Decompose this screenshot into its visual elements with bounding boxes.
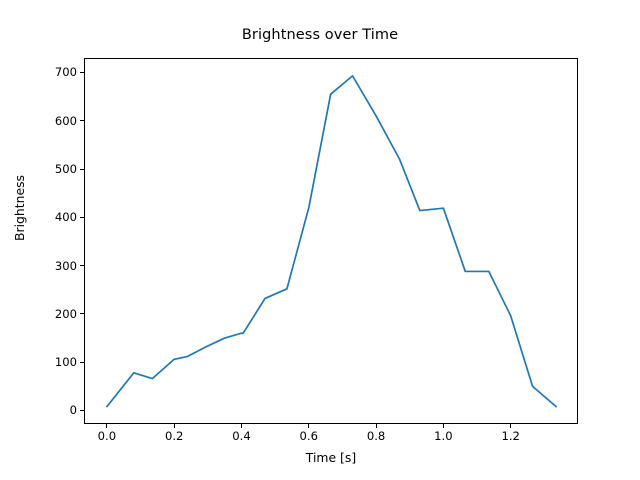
x-tick-label: 1.2 — [501, 429, 519, 443]
y-tick-label: 100 — [55, 355, 77, 369]
x-tick-label: 1.0 — [434, 429, 452, 443]
y-tick-mark — [80, 410, 84, 411]
y-tick-mark — [80, 265, 84, 266]
y-tick-label: 300 — [55, 259, 77, 273]
x-tick-mark — [241, 424, 242, 428]
y-axis-label: Brightness — [12, 175, 27, 241]
y-tick-label: 500 — [55, 162, 77, 176]
x-tick-label: 0.0 — [98, 429, 116, 443]
y-tick-mark — [80, 169, 84, 170]
plot-axes — [84, 58, 578, 424]
x-tick-mark — [510, 424, 511, 428]
y-tick-label: 200 — [55, 307, 77, 321]
page-title: Brightness over Time — [0, 27, 640, 43]
x-tick-mark — [443, 424, 444, 428]
matplotlib-figure: Brightness over Time Time [s] Brightness… — [0, 0, 640, 480]
y-tick-mark — [80, 72, 84, 73]
y-tick-label: 400 — [55, 210, 77, 224]
x-tick-mark — [106, 424, 107, 428]
line-series-brightness — [84, 58, 578, 424]
x-tick-mark — [174, 424, 175, 428]
x-tick-label: 0.6 — [300, 429, 318, 443]
y-tick-label: 0 — [70, 403, 77, 417]
x-tick-label: 0.8 — [367, 429, 385, 443]
x-tick-label: 0.2 — [165, 429, 183, 443]
x-tick-mark — [308, 424, 309, 428]
x-tick-mark — [376, 424, 377, 428]
y-tick-label: 700 — [55, 65, 77, 79]
x-axis-label: Time [s] — [84, 450, 578, 465]
series-polyline — [107, 76, 556, 407]
y-tick-mark — [80, 362, 84, 363]
y-tick-label: 600 — [55, 114, 77, 128]
y-tick-mark — [80, 217, 84, 218]
x-tick-label: 0.4 — [232, 429, 250, 443]
y-tick-mark — [80, 313, 84, 314]
y-tick-mark — [80, 120, 84, 121]
